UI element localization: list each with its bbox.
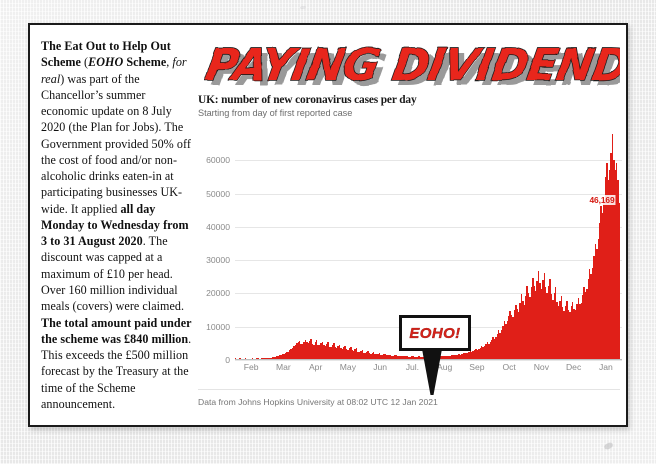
- bar: [619, 203, 620, 358]
- eoho-callout: EOHO!: [399, 315, 471, 351]
- x-axis-tick-label: Dec: [566, 362, 581, 372]
- chart-panel: UK: number of new coronavirus cases per …: [198, 93, 622, 423]
- x-axis-tick-label: Sep: [469, 362, 484, 372]
- x-axis-tick-label: May: [340, 362, 356, 372]
- poster-canvas: The Eat Out to Help Out Scheme (EOHO Sch…: [0, 0, 656, 464]
- y-axis-tick-label: 30000: [206, 255, 230, 265]
- svg-text:PAYING DIVIDENDS!: PAYING DIVIDENDS!: [209, 45, 620, 92]
- eoho-callout-label: EOHO!: [409, 325, 460, 342]
- x-axis-tick-label: Jul.: [406, 362, 419, 372]
- y-axis-tick-label: 20000: [206, 288, 230, 298]
- article-text: The Eat Out to Help Out Scheme (EOHO Sch…: [41, 38, 192, 412]
- chart-source: Data from Johns Hopkins University at 08…: [198, 397, 438, 407]
- source-divider: [198, 389, 620, 390]
- x-axis-tick-label: Apr: [309, 362, 322, 372]
- comic-headline: PAYING DIVIDENDS! PAYING DIVIDENDS!: [200, 30, 620, 92]
- chart-title: UK: number of new coronavirus cases per …: [198, 93, 622, 107]
- svg-text:PAYING DIVIDENDS!: PAYING DIVIDENDS!: [202, 40, 620, 91]
- y-axis-tick-label: 0: [225, 355, 230, 365]
- chart-subtitle: Starting from day of first reported case: [198, 108, 622, 118]
- y-axis-tick-label: 50000: [206, 189, 230, 199]
- x-axis-tick-label: Nov: [534, 362, 549, 372]
- peak-value-label: 46,169: [588, 195, 615, 205]
- y-axis-tick-label: 10000: [206, 322, 230, 332]
- x-axis-tick-label: Feb: [244, 362, 259, 372]
- poster-card: The Eat Out to Help Out Scheme (EOHO Sch…: [28, 23, 628, 427]
- paper-smudge-top-edge: [300, 6, 306, 9]
- eoho-callout-tail: [421, 349, 443, 397]
- x-axis-tick-label: Jan: [599, 362, 613, 372]
- paper-smudge-bottom-right: [603, 442, 613, 450]
- x-axis-tick-label: Mar: [276, 362, 291, 372]
- x-axis-tick-label: Jun: [373, 362, 387, 372]
- y-axis-tick-label: 40000: [206, 222, 230, 232]
- article-runs: The Eat Out to Help Out Scheme (EOHO Sch…: [41, 39, 191, 411]
- y-axis-tick-label: 60000: [206, 155, 230, 165]
- x-axis-tick-label: Oct: [502, 362, 515, 372]
